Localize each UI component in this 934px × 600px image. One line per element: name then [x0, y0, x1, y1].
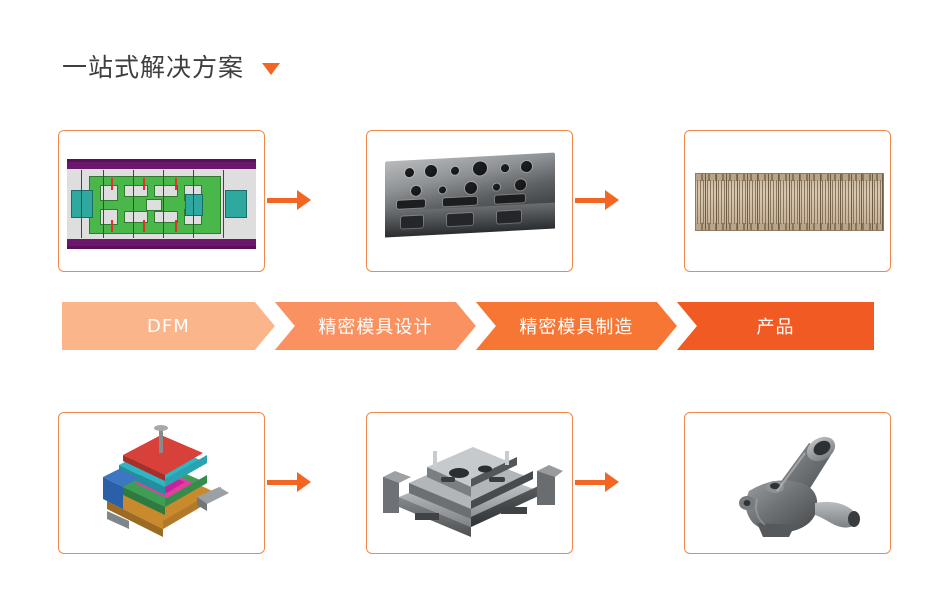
page-title: 一站式解决方案 [62, 48, 280, 84]
arrow-right-icon [575, 472, 619, 492]
steel-mould-assembly-photo [375, 427, 566, 543]
card-leadframe-strip[interactable] [684, 130, 891, 272]
arrow-right-icon [267, 472, 311, 492]
top-row [0, 128, 934, 273]
process-step-mould-design-label: 精密模具设计 [318, 313, 432, 339]
process-step-mould-design[interactable]: 精密模具设计 [275, 302, 476, 350]
process-step-dfm-label: DFM [147, 316, 190, 337]
page-title-text: 一站式解决方案 [62, 48, 244, 84]
precision-mould-plate-photo [381, 152, 559, 245]
process-step-product[interactable]: 产品 [677, 302, 874, 350]
arrow-right-icon [267, 190, 311, 210]
card-product-part[interactable] [684, 412, 891, 554]
grey-casting-product-photo [705, 429, 875, 541]
process-step-product-label: 产品 [756, 313, 794, 339]
arrow-right-icon [575, 190, 619, 210]
bottom-row [0, 410, 934, 555]
process-step-dfm[interactable]: DFM [62, 302, 275, 350]
caret-down-icon [262, 63, 280, 75]
card-cad-model[interactable] [58, 412, 265, 554]
process-step-mould-manufacturing[interactable]: 精密模具制造 [476, 302, 677, 350]
leadframe-strip-photo [695, 173, 884, 231]
process-step-band: DFM 精密模具设计 精密模具制造 产品 [62, 302, 874, 350]
card-steel-mould[interactable] [366, 412, 573, 554]
card-dfm-layout[interactable] [58, 130, 265, 272]
colored-cad-mould-model [89, 425, 239, 545]
process-step-mould-manufacturing-label: 精密模具制造 [519, 313, 633, 339]
dfm-layout-drawing [67, 159, 256, 249]
one-stop-solution-diagram: 一站式解决方案 [0, 0, 934, 600]
card-mould-plate[interactable] [366, 130, 573, 272]
